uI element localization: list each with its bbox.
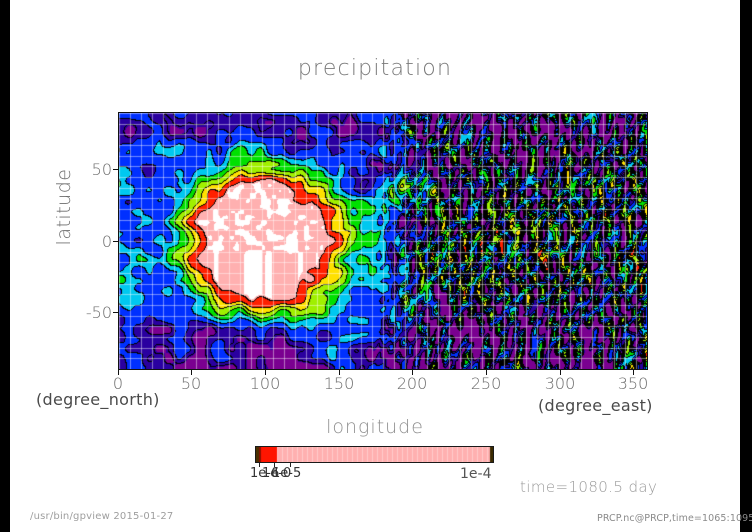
time-status-text: time=1080.5 day xyxy=(520,478,657,496)
page-title: precipitation xyxy=(10,56,740,81)
ytick-mark-0 xyxy=(113,241,118,242)
xtick-label-150: 150 xyxy=(309,374,369,393)
xtick-label-250: 250 xyxy=(456,374,516,393)
colorbar-label-high: 1e-4 xyxy=(460,466,491,482)
xtick-label-350: 350 xyxy=(603,374,663,393)
command-text: /usr/bin/gpview 2015-01-27 xyxy=(30,511,173,522)
x-axis-unit-left: (degree_north) xyxy=(36,390,160,409)
source-text: PRCP.nc@PRCP,time=1065:1095 xyxy=(597,513,752,524)
colorbar xyxy=(255,446,494,463)
ytick-mark-50 xyxy=(113,169,118,170)
colorbar-label-low-3: 1e-5 xyxy=(272,466,301,481)
xtick-label-100: 100 xyxy=(235,374,295,393)
xtick-label-200: 200 xyxy=(382,374,442,393)
y-axis-title: latitude xyxy=(53,147,75,267)
contour-plot-canvas xyxy=(119,113,647,369)
xtick-label-50: 50 xyxy=(161,374,221,393)
x-axis-unit-right: (degree_east) xyxy=(538,396,653,415)
contour-plot-frame xyxy=(118,112,648,370)
colorbar-canvas xyxy=(256,447,493,462)
colorbar-title: longitude xyxy=(10,416,740,438)
ytick-label-neg50: -50 xyxy=(62,303,112,322)
xtick-label-300: 300 xyxy=(530,374,590,393)
plot-page: precipitation 0 50 100 150 200 250 300 3… xyxy=(10,0,740,532)
ytick-mark-neg50 xyxy=(113,312,118,313)
